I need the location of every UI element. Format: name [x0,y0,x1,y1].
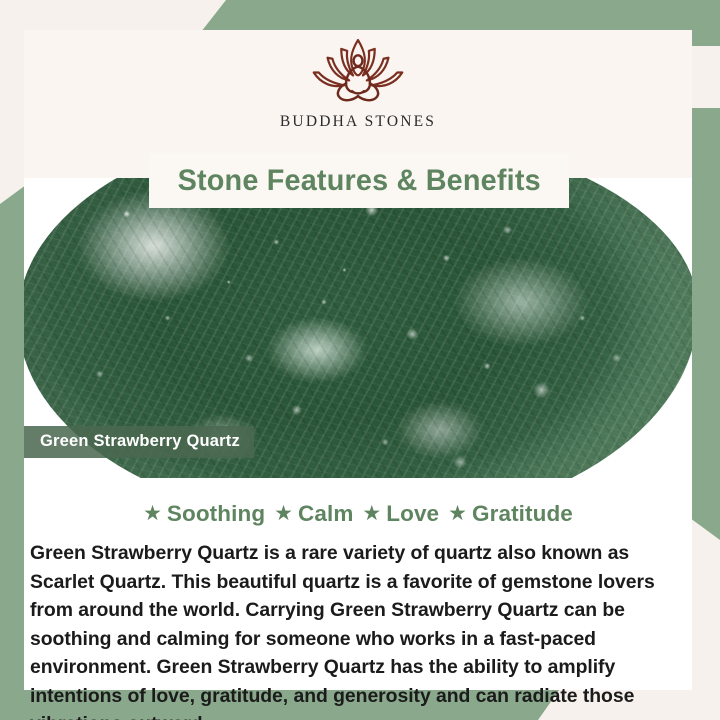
stone-photo: Green Strawberry Quartz [24,178,692,478]
lotus-meditation-icon [299,36,417,110]
page-title: Stone Features & Benefits [177,164,540,198]
benefit-label: Soothing [167,501,265,527]
star-icon: ★ [448,503,467,524]
body-panel: ★ Soothing ★ Calm ★ Love ★ Gratitude Gre… [24,478,692,690]
stone-description: Green Strawberry Quartz is a rare variet… [30,539,682,720]
brand-header: BUDDHA STONES [24,30,692,152]
benefit-item-gratitude: ★ Gratitude [448,501,573,527]
benefit-label: Calm [298,501,353,527]
star-icon: ★ [362,503,381,524]
decor-band-right [690,108,720,540]
photo-caption-label: Green Strawberry Quartz [40,432,240,450]
benefit-item-love: ★ Love [362,501,439,527]
photo-caption: Green Strawberry Quartz [24,426,254,458]
benefit-item-soothing: ★ Soothing [143,501,265,527]
benefits-row: ★ Soothing ★ Calm ★ Love ★ Gratitude [24,492,692,536]
benefit-label: Gratitude [472,501,573,527]
title-plaque: Stone Features & Benefits [149,153,569,208]
brand-name: BUDDHA STONES [280,113,436,131]
star-icon: ★ [274,503,293,524]
content-card: BUDDHA STONES Green Strawberry Quartz St… [24,30,692,690]
benefit-item-calm: ★ Calm [274,501,353,527]
benefit-label: Love [386,501,439,527]
stone-infographic: BUDDHA STONES Green Strawberry Quartz St… [0,0,720,720]
star-icon: ★ [143,503,162,524]
